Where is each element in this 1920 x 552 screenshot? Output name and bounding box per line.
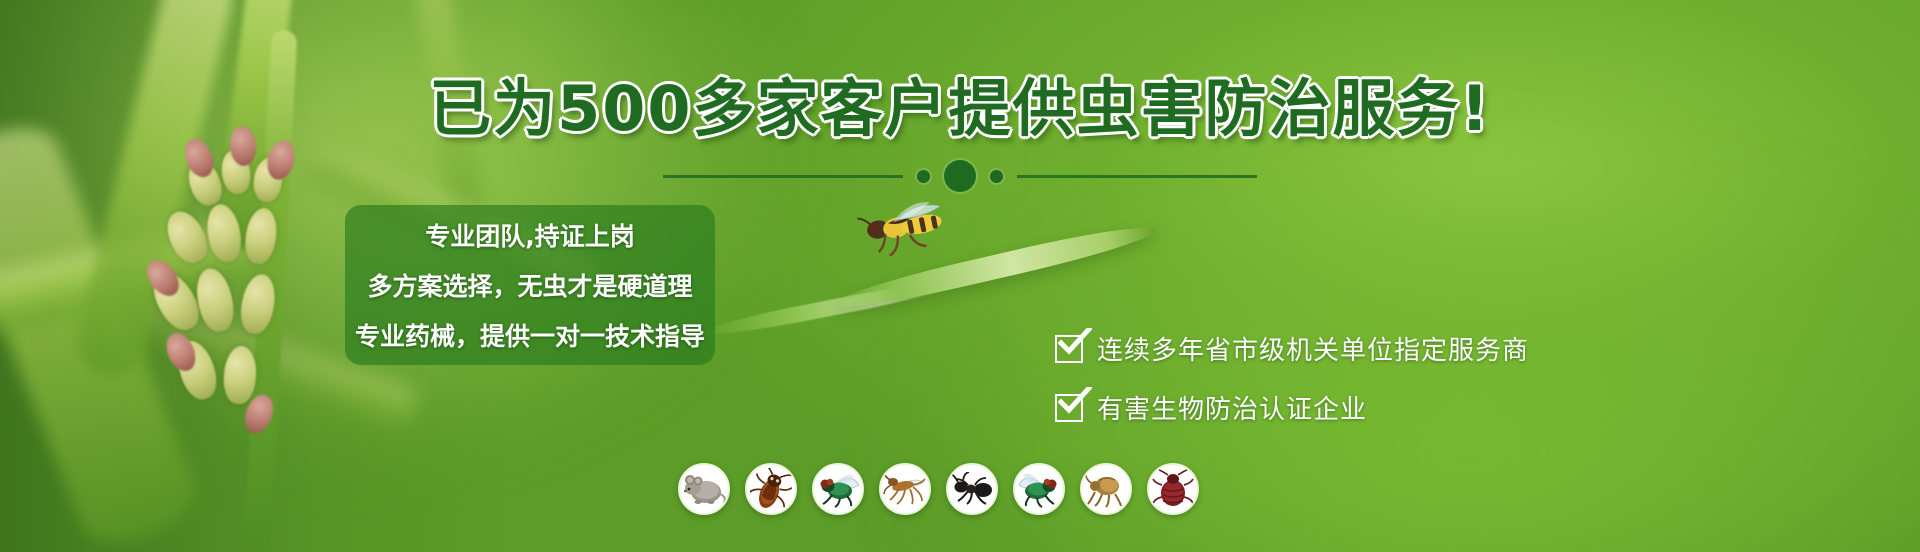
fly-icon[interactable] [1013,463,1065,515]
flea-icon[interactable] [1080,463,1132,515]
bedbug-icon[interactable] [1147,463,1199,515]
mosquito-icon[interactable] [879,463,931,515]
page-title: 已为500多家客户提供虫害防治服务! [0,78,1920,140]
list-item: 连续多年省市级机关单位指定服务商 [1055,330,1529,367]
selling-point-line-3: 专业药械，提供一对一技术指导 [355,317,705,353]
divider-dot-small [917,170,930,183]
cockroach-icon[interactable] [745,463,797,515]
divider-line-left [663,175,903,178]
decorative-divider [0,160,1920,192]
checkbox-checked-icon [1055,394,1083,422]
divider-dot-large [944,160,976,192]
checkbox-checked-icon [1055,335,1083,363]
credential-label: 连续多年省市级机关单位指定服务商 [1097,330,1529,367]
divider-line-right [1017,175,1257,178]
hoverfly-icon [845,196,965,266]
selling-point-line-1: 专业团队,持证上岗 [425,217,635,253]
selling-point-line-2: 多方案选择，无虫才是硬道理 [367,267,692,303]
credentials-list: 连续多年省市级机关单位指定服务商 有害生物防治认证企业 [1055,330,1529,426]
mouse-icon[interactable] [678,463,730,515]
pest-icon-strip [678,463,1199,515]
list-item: 有害生物防治认证企业 [1055,389,1529,426]
promo-banner: 已为500多家客户提供虫害防治服务! 专业团队,持证上岗 多方案选择，无虫才是硬… [0,0,1920,552]
plant-seedhead [150,150,370,480]
ant-icon[interactable] [946,463,998,515]
selling-points-panel: 专业团队,持证上岗 多方案选择，无虫才是硬道理 专业药械，提供一对一技术指导 [345,205,715,365]
divider-dot-small [990,170,1003,183]
fly-icon[interactable] [812,463,864,515]
credential-label: 有害生物防治认证企业 [1097,389,1367,426]
